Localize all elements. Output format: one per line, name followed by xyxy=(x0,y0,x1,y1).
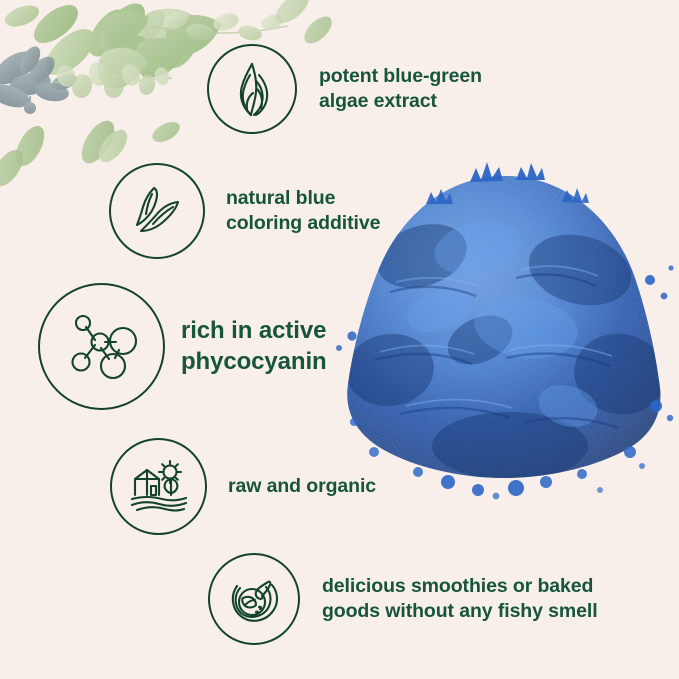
feature-item-coloring-additive: natural blue coloring additive xyxy=(109,163,380,259)
molecule-icon-badge xyxy=(38,283,165,410)
feature-item-phycocyanin: rich in active phycocyanin xyxy=(38,283,327,410)
feature-item-raw-organic: raw and organic xyxy=(110,438,376,535)
farm-icon-badge xyxy=(110,438,207,535)
molecule-icon xyxy=(64,309,140,385)
algae-frond-icon xyxy=(226,61,278,117)
spirulina-leaves-icon-badge xyxy=(109,163,205,259)
farm-icon xyxy=(129,459,189,515)
algae-frond-icon-badge xyxy=(207,44,297,134)
feature-label: potent blue-green algae extract xyxy=(319,64,482,114)
feature-label: delicious smoothies or baked goods witho… xyxy=(322,574,598,624)
infographic-canvas: potent blue-green algae extract natural … xyxy=(0,0,679,679)
feature-label: natural blue coloring additive xyxy=(226,186,380,236)
feature-label: rich in active phycocyanin xyxy=(181,316,327,377)
feature-label: raw and organic xyxy=(228,474,376,499)
bowl-spoon-leaf-icon-badge xyxy=(208,553,300,645)
spirulina-leaves-icon xyxy=(128,182,186,240)
feature-item-taste: delicious smoothies or baked goods witho… xyxy=(208,553,598,645)
blue-powder-mound xyxy=(330,160,679,500)
bowl-spoon-leaf-icon xyxy=(225,570,283,628)
feature-item-algae-extract: potent blue-green algae extract xyxy=(207,44,482,134)
